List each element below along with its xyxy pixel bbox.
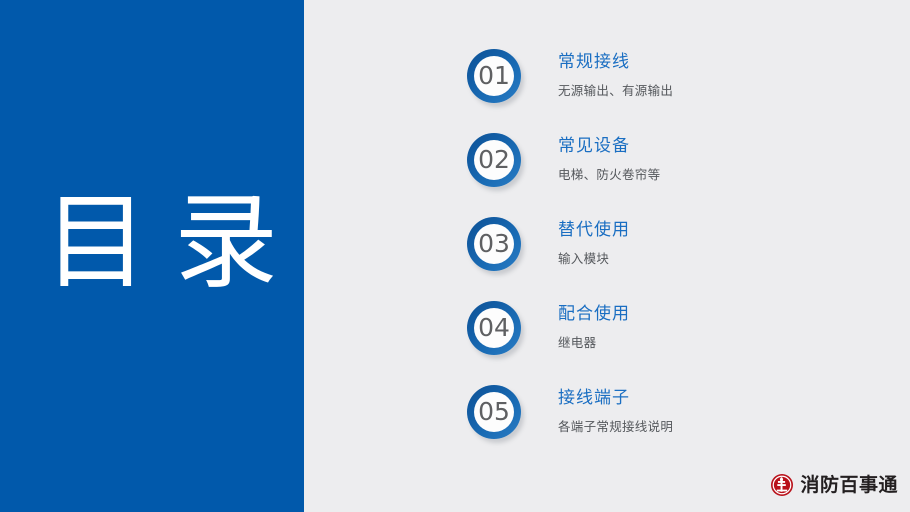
- toc-item-title: 常见设备: [558, 135, 888, 157]
- number-badge: 04: [467, 301, 529, 363]
- badge-number: 04: [467, 301, 521, 355]
- toc-text-block: 配合使用 继电器: [558, 303, 888, 352]
- slide-canvas: 目录 01 常规接线 无源输出、有源输出 02 常见: [0, 0, 910, 512]
- toc-item-title: 常规接线: [558, 51, 888, 73]
- number-badge: 01: [467, 49, 529, 111]
- toc-item-subtitle: 继电器: [558, 334, 888, 352]
- toc-item-title: 接线端子: [558, 387, 888, 409]
- table-of-contents: 01 常规接线 无源输出、有源输出 02 常见设备 电梯、防火卷帘等: [304, 0, 910, 512]
- number-badge: 02: [467, 133, 529, 195]
- page-title: 目录: [44, 186, 304, 298]
- toc-text-block: 常见设备 电梯、防火卷帘等: [558, 135, 888, 184]
- fire-safety-circle-icon: [770, 473, 794, 497]
- toc-item-subtitle: 无源输出、有源输出: [558, 82, 888, 100]
- badge-number: 03: [467, 217, 521, 271]
- title-panel: 目录: [0, 0, 304, 512]
- toc-item[interactable]: 01 常规接线 无源输出、有源输出: [467, 49, 887, 111]
- badge-number: 02: [467, 133, 521, 187]
- toc-item-title: 替代使用: [558, 219, 888, 241]
- toc-item[interactable]: 03 替代使用 输入模块: [467, 217, 887, 279]
- toc-item-subtitle: 输入模块: [558, 250, 888, 268]
- toc-text-block: 常规接线 无源输出、有源输出: [558, 51, 888, 100]
- toc-item-subtitle: 各端子常规接线说明: [558, 418, 888, 436]
- toc-item[interactable]: 04 配合使用 继电器: [467, 301, 887, 363]
- number-badge: 03: [467, 217, 529, 279]
- brand-logo: 消防百事通: [770, 470, 898, 500]
- toc-item-subtitle: 电梯、防火卷帘等: [558, 166, 888, 184]
- toc-item-title: 配合使用: [558, 303, 888, 325]
- badge-number: 05: [467, 385, 521, 439]
- badge-number: 01: [467, 49, 521, 103]
- number-badge: 05: [467, 385, 529, 447]
- toc-item[interactable]: 02 常见设备 电梯、防火卷帘等: [467, 133, 887, 195]
- brand-name: 消防百事通: [800, 473, 898, 497]
- toc-text-block: 替代使用 输入模块: [558, 219, 888, 268]
- toc-item[interactable]: 05 接线端子 各端子常规接线说明: [467, 385, 887, 447]
- toc-text-block: 接线端子 各端子常规接线说明: [558, 387, 888, 436]
